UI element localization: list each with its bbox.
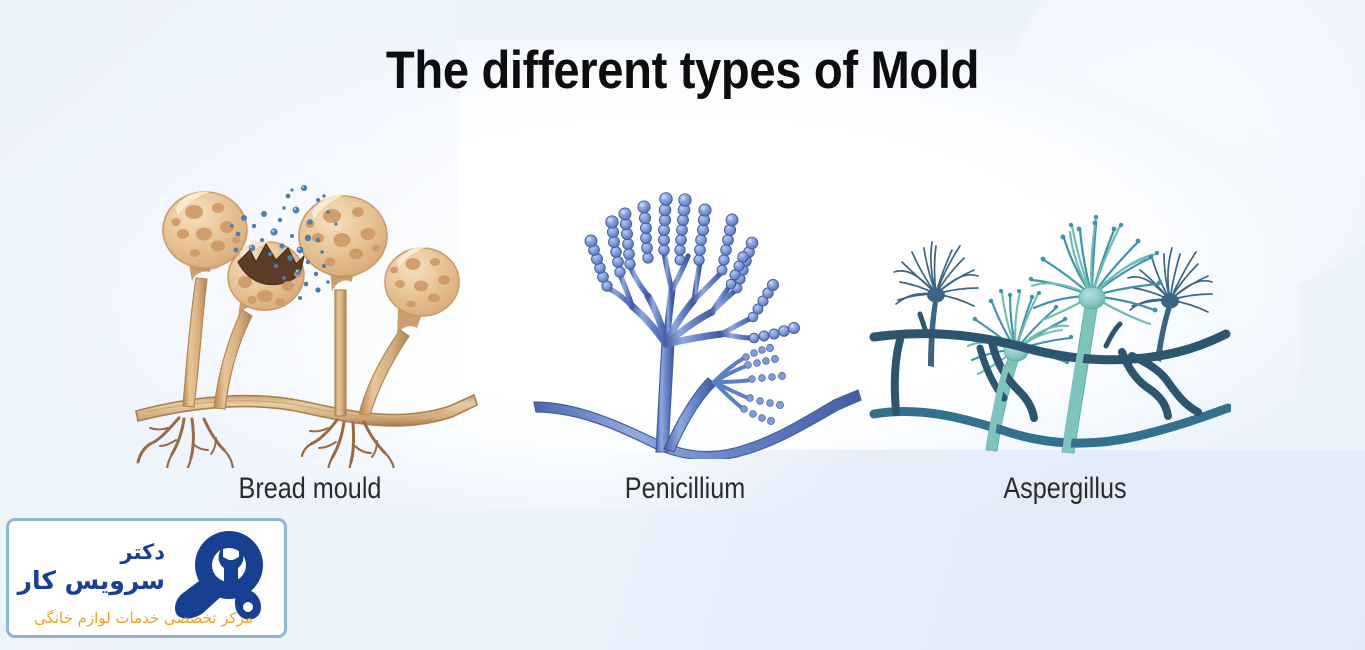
logo-brand-text: دکتر سرویس کار: [17, 539, 165, 596]
penicillium-branches: [632, 290, 722, 344]
aspergillus-head-front-center: [1029, 215, 1162, 453]
caption-penicillium: Penicillium: [530, 472, 841, 506]
illustration-canvas: The different types of Mold: [0, 0, 1365, 650]
caption-bread-mould: Bread mould: [159, 472, 461, 506]
logo-tagline: مرکز تخصصی خدمات لوازم خانگی: [9, 609, 278, 627]
aspergillus-head-back-left: [894, 242, 978, 367]
bread-stalk-1: [183, 258, 212, 407]
figure-aspergillus: [866, 192, 1231, 454]
watermark-logo[interactable]: دکتر سرویس کار مرکز تخصصی خدمات لوازم خا…: [6, 518, 287, 638]
aspergillus-hypha-network: [874, 314, 1228, 443]
bread-rhizoids-right: [302, 420, 394, 468]
figure-penicillium: [528, 164, 868, 459]
bread-sporangium-3: [299, 194, 387, 279]
caption-aspergillus: Aspergillus: [910, 472, 1221, 506]
bread-stalk-4: [359, 308, 422, 415]
penicillium-secondary-chains: [741, 344, 786, 424]
bread-stalk-3: [330, 266, 354, 416]
page-title: The different types of Mold: [75, 40, 1290, 101]
bread-sporangium-4: [385, 247, 459, 317]
logo-brand-line-2: سرویس کار: [17, 566, 165, 596]
logo-brand-line-1: دکتر: [17, 539, 165, 565]
bread-rhizoids-left: [138, 418, 233, 468]
figure-bread-mould: [132, 178, 482, 468]
